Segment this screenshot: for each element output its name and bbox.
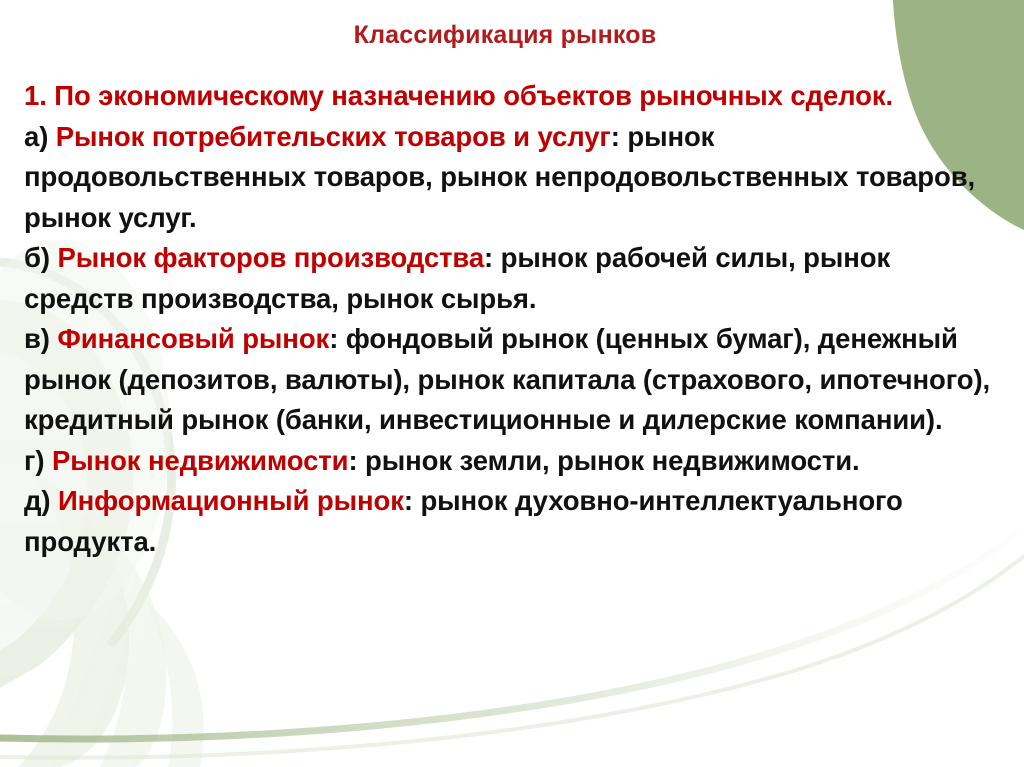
slide-canvas: Классификация рынков 1. По экономическом… (0, 0, 1024, 767)
item-marker-v: в) (24, 323, 57, 354)
item-term-d: Информационный рынок (58, 485, 404, 516)
slide-content: Классификация рынков 1. По экономическом… (0, 0, 1024, 767)
list-item: д) Информационный рынок: рынок духовно-и… (24, 481, 996, 562)
item-marker-g: г) (24, 445, 52, 476)
list-item: а) Рынок потребительских товаров и услуг… (24, 117, 996, 239)
list-item: г) Рынок недвижимости: рынок земли, рыно… (24, 441, 996, 482)
item-term-g: Рынок недвижимости (52, 445, 349, 476)
paragraph-heading: 1. По экономическому назначению объектов… (24, 76, 996, 117)
item-term-b: Рынок факторов производства (57, 242, 484, 273)
item-term-a: Рынок потребительских товаров и услуг (56, 121, 611, 152)
item-marker-b: б) (24, 242, 57, 273)
body-text-block: 1. По экономическому назначению объектов… (24, 76, 996, 562)
list-item: б) Рынок факторов производства: рынок ра… (24, 238, 996, 319)
item-rest-g: : рынок земли, рынок недвижимости. (348, 445, 859, 476)
item-marker-d: д) (24, 485, 58, 516)
list-item: в) Финансовый рынок: фондовый рынок (цен… (24, 319, 996, 441)
item-term-v: Финансовый рынок (57, 323, 329, 354)
page-title: Классификация рынков (0, 22, 1010, 50)
item-marker-a: а) (24, 121, 56, 152)
heading-text: 1. По экономическому назначению объектов… (24, 80, 893, 111)
